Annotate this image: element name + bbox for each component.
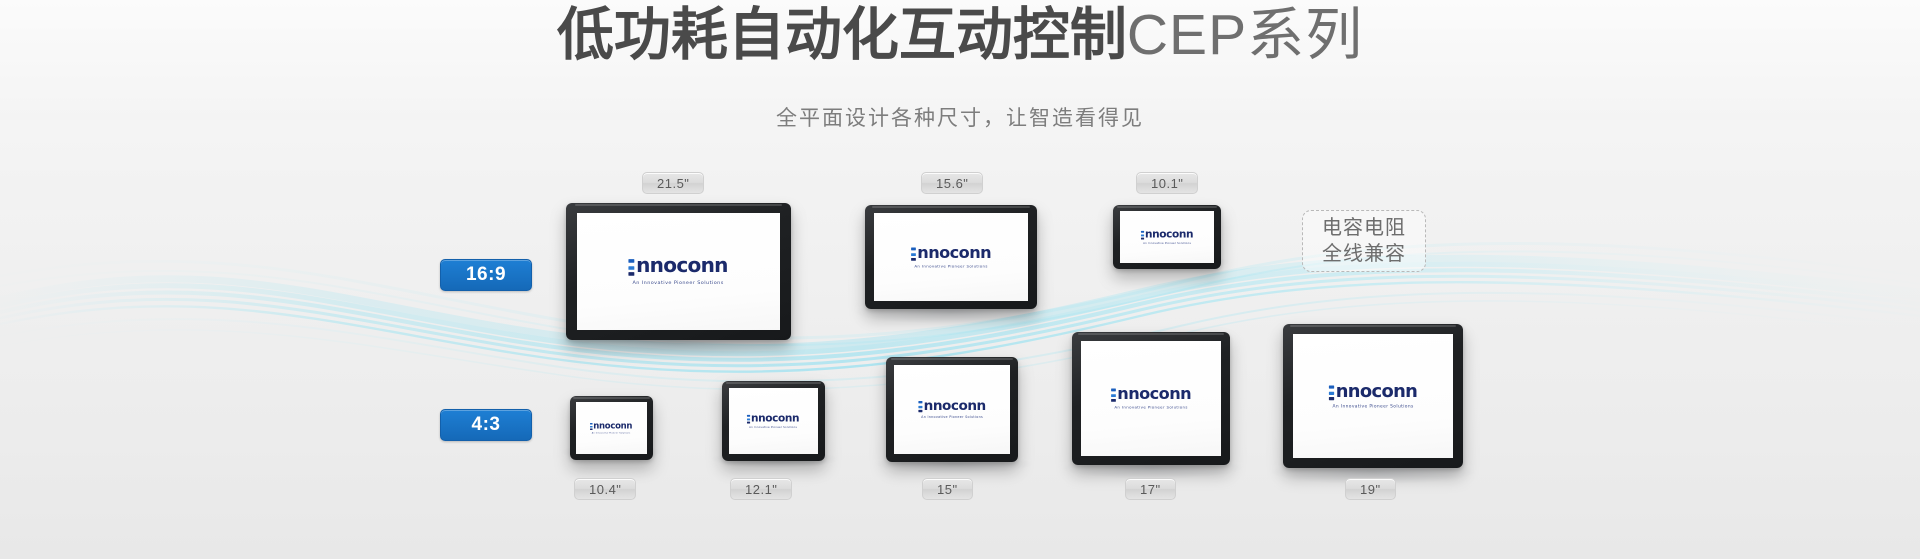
ennoconn-logo: nnoconn An Innovative Pioneer Solutions (629, 257, 728, 286)
monitor-19[interactable]: nnoconn An Innovative Pioneer Solutions (1283, 324, 1463, 468)
ennoconn-logo: nnoconn An Innovative Pioneer Solutions (911, 245, 991, 268)
size-label-10-4-text: 10.4" (589, 482, 621, 497)
ennoconn-logo: nnoconn An Innovative Pioneer Solutions (1141, 229, 1193, 244)
logo-bars-icon (918, 401, 922, 413)
compatibility-note-line1: 电容电阻 (1322, 215, 1406, 241)
size-label-21-5-text: 21.5" (657, 176, 689, 191)
size-label-12-1-text: 12.1" (745, 482, 777, 497)
logo-wordmark: nnoconn (1145, 229, 1193, 240)
logo-wordmark: nnoconn (1336, 383, 1418, 401)
monitor-10-4-screen: nnoconn An Innovative Pioneer Solutions (576, 402, 647, 454)
logo-tagline: An Innovative Pioneer Solutions (921, 416, 983, 419)
logo-wordmark: nnoconn (924, 400, 986, 414)
monitor-15-6-screen: nnoconn An Innovative Pioneer Solutions (874, 213, 1028, 301)
logo-wordmark: nnoconn (751, 413, 799, 424)
size-label-19-text: 19" (1360, 482, 1381, 497)
monitor-10-1-screen: nnoconn An Innovative Pioneer Solutions (1120, 211, 1214, 263)
page-title-main: 低功耗自动化互动控制 (557, 3, 1127, 67)
logo-tagline: An Innovative Pioneer Solutions (1143, 242, 1191, 244)
size-label-10-1: 10.1" (1136, 172, 1198, 194)
size-label-15-6-text: 15.6" (936, 176, 968, 191)
ratio-badge-4-3-label: 4:3 (472, 414, 501, 436)
ratio-badge-4-3: 4:3 (440, 409, 532, 441)
logo-wordmark: nnoconn (917, 245, 991, 261)
size-label-19: 19" (1345, 478, 1396, 500)
size-label-21-5: 21.5" (642, 172, 704, 194)
logo-tagline: An Innovative Pioneer Solutions (914, 265, 987, 269)
ennoconn-logo: nnoconn An Innovative Pioneer Solutions (1329, 383, 1417, 408)
logo-tagline: An Innovative Pioneer Solutions (633, 281, 724, 286)
monitor-15-6[interactable]: nnoconn An Innovative Pioneer Solutions (865, 205, 1037, 309)
size-label-17: 17" (1125, 478, 1176, 500)
compatibility-note: 电容电阻 全线兼容 (1302, 210, 1426, 272)
size-label-12-1: 12.1" (730, 478, 792, 500)
monitor-21-5-screen: nnoconn An Innovative Pioneer Solutions (577, 213, 780, 330)
monitor-12-1-screen: nnoconn An Innovative Pioneer Solutions (729, 388, 818, 454)
logo-tagline: An Innovative Pioneer Solutions (750, 426, 798, 428)
ennoconn-logo: nnoconn An Innovative Pioneer Solutions (747, 413, 799, 428)
logo-tagline: An Innovative Pioneer Solutions (1332, 404, 1413, 408)
monitor-17-screen: nnoconn An Innovative Pioneer Solutions (1081, 341, 1221, 456)
logo-bars-icon (629, 260, 635, 278)
size-label-17-text: 17" (1140, 482, 1161, 497)
logo-tagline: An Innovative Pioneer Solutions (1114, 406, 1187, 410)
ennoconn-logo: nnoconn An Innovative Pioneer Solutions (918, 400, 985, 419)
monitor-17[interactable]: nnoconn An Innovative Pioneer Solutions (1072, 332, 1230, 465)
monitor-15[interactable]: nnoconn An Innovative Pioneer Solutions (886, 357, 1018, 462)
size-label-15-6: 15.6" (921, 172, 983, 194)
ennoconn-logo: nnoconn An Innovative Pioneer Solutions (590, 422, 632, 434)
logo-wordmark: nnoconn (637, 257, 729, 277)
ratio-badge-16-9: 16:9 (440, 259, 532, 291)
size-label-10-4: 10.4" (574, 478, 636, 500)
logo-bars-icon (911, 247, 916, 261)
page-title: 低功耗自动化互动控制CEP系列 (0, 6, 1920, 66)
logo-bars-icon (1329, 385, 1334, 401)
monitor-19-screen: nnoconn An Innovative Pioneer Solutions (1293, 334, 1453, 458)
logo-tagline: An Innovative Pioneer Solutions (592, 432, 631, 434)
monitor-10-4[interactable]: nnoconn An Innovative Pioneer Solutions (570, 396, 653, 460)
size-label-15-text: 15" (937, 482, 958, 497)
page-title-series: CEP系列 (1127, 3, 1363, 67)
ennoconn-logo: nnoconn An Innovative Pioneer Solutions (1111, 387, 1191, 410)
logo-wordmark: nnoconn (1117, 387, 1191, 403)
logo-wordmark: nnoconn (594, 422, 633, 431)
ratio-badge-16-9-label: 16:9 (466, 264, 506, 286)
monitor-15-screen: nnoconn An Innovative Pioneer Solutions (894, 365, 1010, 454)
size-label-10-1-text: 10.1" (1151, 176, 1183, 191)
monitor-21-5[interactable]: nnoconn An Innovative Pioneer Solutions (566, 203, 791, 340)
size-label-15: 15" (922, 478, 973, 500)
logo-bars-icon (1141, 231, 1144, 240)
logo-bars-icon (1111, 389, 1116, 403)
compatibility-note-line2: 全线兼容 (1322, 241, 1406, 267)
monitor-12-1[interactable]: nnoconn An Innovative Pioneer Solutions (722, 381, 825, 461)
page-subtitle: 全平面设计各种尺寸，让智造看得见 (0, 102, 1920, 132)
monitor-10-1[interactable]: nnoconn An Innovative Pioneer Solutions (1113, 205, 1221, 269)
product-banner: 低功耗自动化互动控制CEP系列 全平面设计各种尺寸，让智造看得见 16:9 21… (0, 0, 1920, 559)
